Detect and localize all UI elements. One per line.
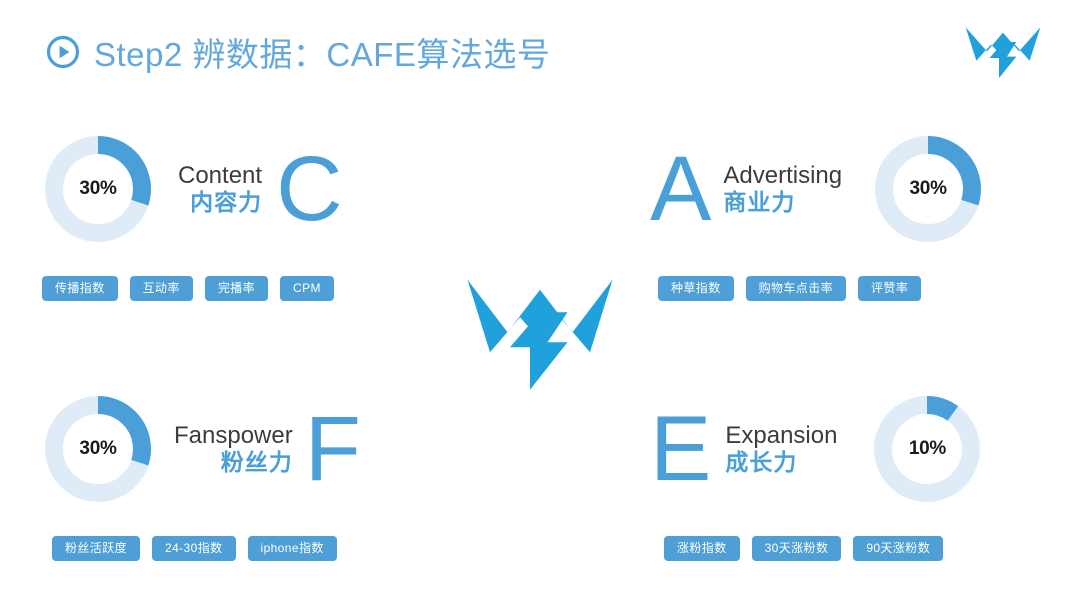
tag-chip[interactable]: 购物车点击率: [746, 276, 846, 301]
quadrant-expansion-name-en: Expansion: [725, 423, 837, 450]
quadrant-content-tags: 传播指数 互动率 完播率 CPM: [42, 276, 472, 301]
tag-chip[interactable]: 传播指数: [42, 276, 118, 301]
quadrant-advertising-names: Advertising 商业力: [723, 163, 842, 216]
quadrant-expansion-main: E Expansion 成长力 10%: [650, 384, 1080, 514]
donut-percent-label: 10%: [871, 393, 983, 505]
quadrant-content-name-cn: 内容力: [190, 190, 262, 216]
quadrant-fanspower: 30% Fanspower 粉丝力 F 粉丝活跃度 24-30指数 iphone…: [42, 384, 472, 604]
tag-chip[interactable]: 完播率: [205, 276, 268, 301]
quadrant-expansion-letter: E: [650, 407, 711, 492]
donut-percent-label: 30%: [42, 393, 154, 505]
quadrant-expansion-names: Expansion 成长力: [725, 423, 837, 476]
tag-chip[interactable]: 30天涨粉数: [752, 536, 842, 561]
quadrant-expansion-name-cn: 成长力: [725, 450, 797, 476]
tag-chip[interactable]: CPM: [280, 276, 334, 301]
quadrant-advertising-main: A Advertising 商业力 30%: [650, 124, 1080, 254]
donut-percent-label: 30%: [872, 133, 984, 245]
quadrant-expansion-tags: 涨粉指数 30天涨粉数 90天涨粉数: [664, 536, 1080, 561]
tag-chip[interactable]: 种草指数: [658, 276, 734, 301]
tag-chip[interactable]: 90天涨粉数: [853, 536, 943, 561]
quadrant-fanspower-letter: F: [305, 407, 361, 492]
brand-lightning-logo-center-icon: [465, 272, 615, 390]
play-circle-icon: [46, 35, 80, 69]
quadrant-expansion: E Expansion 成长力 10% 涨粉指数 30天涨粉数 90天涨粉数: [650, 384, 1080, 604]
tag-chip[interactable]: 评赞率: [858, 276, 921, 301]
quadrant-fanspower-name-cn: 粉丝力: [221, 450, 293, 476]
quadrant-fanspower-main: 30% Fanspower 粉丝力 F: [42, 384, 472, 514]
quadrant-advertising: A Advertising 商业力 30% 种草指数 购物车点击率 评赞率: [650, 124, 1080, 344]
tag-chip[interactable]: 24-30指数: [152, 536, 236, 561]
page-title: Step2 辨数据：CAFE算法选号: [94, 28, 550, 76]
quadrant-advertising-tags: 种草指数 购物车点击率 评赞率: [658, 276, 1080, 301]
quadrant-fanspower-name-en: Fanspower: [174, 423, 293, 450]
quadrant-content-main: 30% Content 内容力 C: [42, 124, 472, 254]
donut-percent-label: 30%: [42, 133, 154, 245]
donut-gauge-advertising: 30%: [872, 133, 984, 245]
tag-chip[interactable]: 互动率: [130, 276, 193, 301]
tag-chip[interactable]: iphone指数: [248, 536, 337, 561]
donut-gauge-fanspower: 30%: [42, 393, 154, 505]
quadrant-advertising-name-cn: 商业力: [723, 190, 795, 216]
quadrant-fanspower-tags: 粉丝活跃度 24-30指数 iphone指数: [52, 536, 472, 561]
tag-chip[interactable]: 粉丝活跃度: [52, 536, 140, 561]
page-header: Step2 辨数据：CAFE算法选号: [46, 28, 550, 76]
quadrant-fanspower-names: Fanspower 粉丝力: [174, 423, 293, 476]
quadrant-content-letter: C: [276, 147, 342, 232]
donut-gauge-expansion: 10%: [871, 393, 983, 505]
brand-lightning-logo-icon: [962, 22, 1044, 78]
tag-chip[interactable]: 涨粉指数: [664, 536, 740, 561]
quadrant-advertising-letter: A: [650, 147, 711, 232]
quadrant-advertising-name-en: Advertising: [723, 163, 842, 190]
donut-gauge-content: 30%: [42, 133, 154, 245]
quadrant-content-names: Content 内容力: [178, 163, 262, 216]
quadrant-content-name-en: Content: [178, 163, 262, 190]
quadrant-content: 30% Content 内容力 C 传播指数 互动率 完播率 CPM: [42, 124, 472, 344]
